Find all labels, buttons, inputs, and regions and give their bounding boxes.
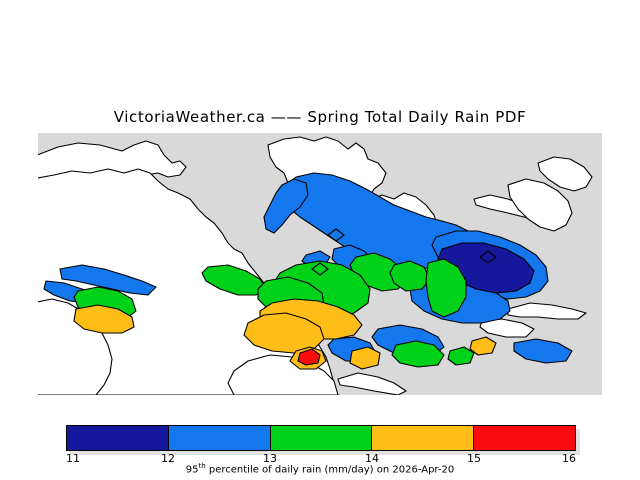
colorbar-caption: 95th percentile of daily rain (mm/day) o…	[0, 462, 640, 475]
page-title: VictoriaWeather.ca —— Spring Total Daily…	[0, 108, 640, 126]
region-orange-small-island[interactable]	[350, 347, 380, 369]
colorbar-segment-13-14[interactable]	[271, 426, 373, 450]
weather-map-page: VictoriaWeather.ca —— Spring Total Daily…	[0, 0, 640, 480]
caption-suffix: percentile of daily rain (mm/day) on 202…	[206, 464, 455, 475]
caption-superscript: th	[199, 462, 206, 470]
map-canvas[interactable]	[38, 133, 602, 395]
colorbar-segment-11-12[interactable]	[67, 426, 169, 450]
map-panel[interactable]	[38, 133, 602, 395]
colorbar-segment-14-15[interactable]	[372, 426, 474, 450]
colorbar-segment-15-16[interactable]	[474, 426, 575, 450]
caption-prefix: 95	[186, 464, 199, 475]
colorbar[interactable]	[66, 425, 576, 451]
colorbar-track[interactable]	[66, 425, 576, 451]
colorbar-segment-12-13[interactable]	[169, 426, 271, 450]
